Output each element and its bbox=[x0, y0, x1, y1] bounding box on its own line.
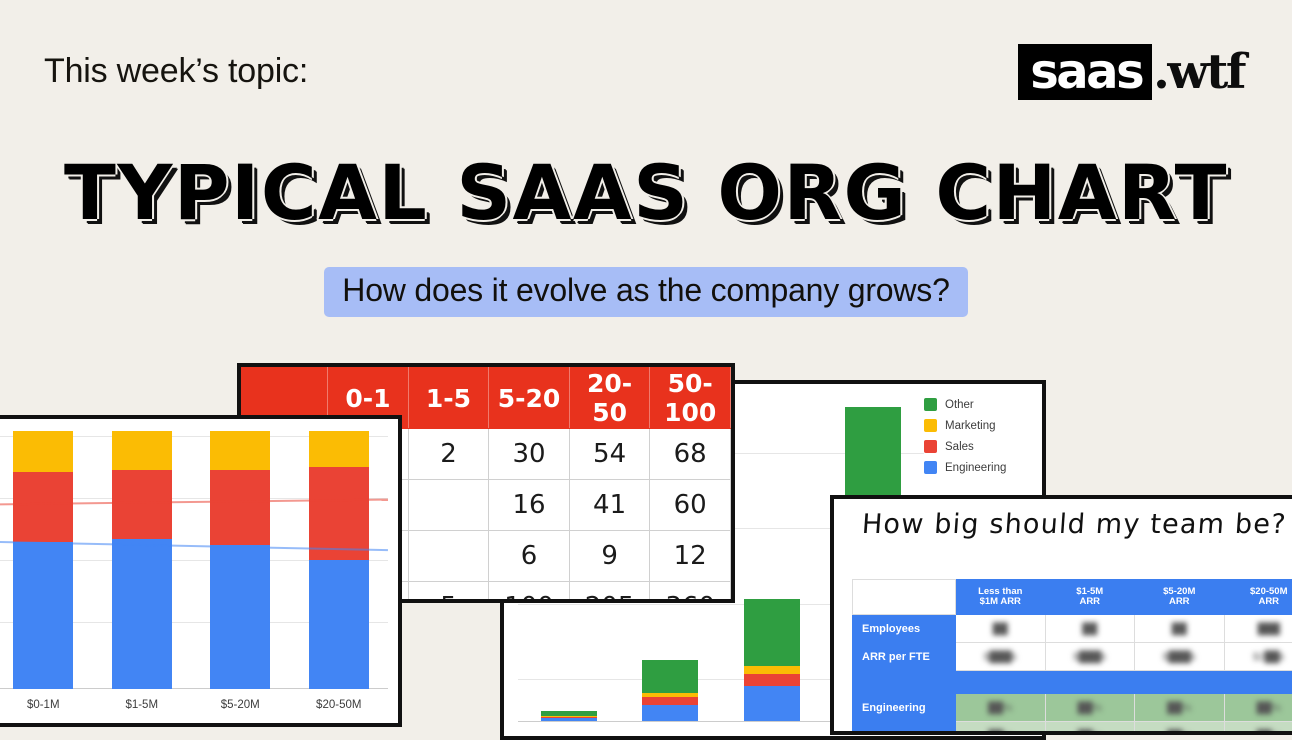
table-row-header: Engineering bbox=[853, 694, 956, 722]
table-cell: $███k bbox=[956, 643, 1046, 671]
redacted-value: $2██k bbox=[1253, 651, 1285, 663]
bar-stack[interactable] bbox=[309, 431, 369, 689]
table-cell: 41 bbox=[569, 480, 650, 531]
redacted-value: ██ bbox=[1082, 623, 1097, 635]
legend-item-engineering[interactable]: Engineering bbox=[924, 461, 1028, 474]
table-row-header: Employees bbox=[853, 615, 956, 643]
table-cell: ██% bbox=[1135, 694, 1225, 722]
table-row-header: ARR per FTE bbox=[853, 643, 956, 671]
legend-item-other[interactable]: Other bbox=[924, 398, 1028, 411]
page-subtitle: How does it evolve as the company grows? bbox=[324, 267, 967, 317]
bar-stack[interactable] bbox=[13, 431, 73, 689]
table-cell: $███k bbox=[1045, 643, 1135, 671]
headcount-mix-plot bbox=[0, 431, 388, 689]
table-cell: ██% bbox=[956, 694, 1046, 722]
bar-segment-engineering bbox=[309, 560, 369, 689]
redacted-value: $███k bbox=[1163, 651, 1196, 663]
logo-mark-text: saas bbox=[1018, 44, 1152, 100]
subtitle-container: How does it evolve as the company grows? bbox=[0, 267, 1292, 317]
table-cell: 6 bbox=[489, 531, 570, 582]
bar-segment-sales bbox=[210, 470, 270, 545]
legend-item-marketing[interactable]: Marketing bbox=[924, 419, 1028, 432]
table-corner-cell bbox=[853, 580, 956, 615]
table-cell: 100 bbox=[489, 582, 570, 604]
table-row bbox=[853, 671, 1292, 694]
legend-item-label: Other bbox=[945, 399, 974, 411]
table-cell: ██ bbox=[956, 615, 1046, 643]
table-cell: ██% bbox=[1135, 722, 1225, 736]
table-cell: ██% bbox=[1224, 722, 1292, 736]
table-spacer-row bbox=[853, 671, 1292, 694]
table-column-header[interactable]: $5-20MARR bbox=[1135, 580, 1225, 615]
kicker-text: This week’s topic: bbox=[44, 52, 308, 91]
x-axis-tick-label: $0-1M bbox=[3, 699, 83, 711]
table-header-row: Less than$1M ARR$1-5MARR$5-20MARR$20-50M… bbox=[853, 580, 1292, 615]
legend-swatch-icon bbox=[924, 419, 937, 432]
x-axis-tick-label: $5-20M bbox=[200, 699, 280, 711]
table-column-header[interactable]: Less than$1M ARR bbox=[956, 580, 1046, 615]
table-column-header[interactable]: $20-50MARR bbox=[1224, 580, 1292, 615]
table-column-header[interactable]: 20-50 bbox=[569, 368, 650, 429]
page-title: TYPICAL SAAS ORG CHART bbox=[0, 155, 1292, 231]
bar-segment-marketing bbox=[309, 431, 369, 467]
legend-item-label: Engineering bbox=[945, 462, 1006, 474]
logo-word-text: .wtf bbox=[1153, 44, 1244, 100]
table-cell: 2 bbox=[408, 429, 489, 480]
table-column-header[interactable]: $1-5MARR bbox=[1045, 580, 1135, 615]
team-size-card: How big should my team be? Less than$1M … bbox=[830, 495, 1292, 735]
bar-segment-marketing bbox=[210, 431, 270, 470]
bar-segment-engineering bbox=[210, 545, 270, 689]
redacted-value: ██% bbox=[1257, 730, 1281, 736]
table-cell: 9 bbox=[569, 531, 650, 582]
x-axis-labels: $0-1M$1-5M$5-20M$20-50M bbox=[0, 691, 388, 719]
redacted-value: ██% bbox=[1257, 702, 1281, 714]
table-cell bbox=[408, 531, 489, 582]
bar-segment-engineering bbox=[642, 705, 698, 721]
redacted-value: ██% bbox=[988, 702, 1012, 714]
redacted-value: ███ bbox=[1258, 623, 1280, 635]
table-column-header[interactable]: 1-5 bbox=[408, 368, 489, 429]
table-cell: ██ bbox=[1135, 615, 1225, 643]
table-cell: 360 bbox=[650, 582, 731, 604]
bar-segment-engineering bbox=[541, 718, 597, 721]
table-row: Employees█████████ bbox=[853, 615, 1292, 643]
redacted-value: ██% bbox=[1078, 702, 1102, 714]
bar-stack[interactable] bbox=[744, 599, 800, 721]
bar-segment-marketing bbox=[744, 666, 800, 674]
table-cell: 5 bbox=[408, 582, 489, 604]
headcount-mix-chart-card: $0-1M$1-5M$5-20M$20-50M bbox=[0, 415, 402, 727]
bar-segment-other bbox=[642, 660, 698, 693]
redacted-value: ██% bbox=[988, 730, 1012, 736]
redacted-value: ██% bbox=[1078, 730, 1102, 736]
table-row: ARR per FTE$███k$███k$███k$2██k bbox=[853, 643, 1292, 671]
chart-legend: OtherMarketingSalesEngineering bbox=[924, 398, 1028, 482]
x-axis-tick-label: $1-5M bbox=[102, 699, 182, 711]
table-cell: 30 bbox=[489, 429, 570, 480]
table-cell: 12 bbox=[650, 531, 731, 582]
table-cell: ██% bbox=[1045, 694, 1135, 722]
legend-swatch-icon bbox=[924, 398, 937, 411]
table-cell: 205 bbox=[569, 582, 650, 604]
table-cell: ███ bbox=[1224, 615, 1292, 643]
table-cell: 68 bbox=[650, 429, 731, 480]
table-row: ██%██%██%██% bbox=[853, 722, 1292, 736]
redacted-value: ██% bbox=[1167, 702, 1191, 714]
table-cell: ██% bbox=[1045, 722, 1135, 736]
bar-segment-engineering bbox=[112, 539, 172, 689]
table-cell: 16 bbox=[489, 480, 570, 531]
table-cell: ██% bbox=[1224, 694, 1292, 722]
table-row-header bbox=[853, 722, 956, 736]
bar-segment-engineering bbox=[13, 542, 73, 689]
redacted-value: $███k bbox=[1073, 651, 1106, 663]
headcount-mix-bar-group bbox=[0, 431, 388, 689]
bar-stack[interactable] bbox=[210, 431, 270, 689]
bar-stack[interactable] bbox=[642, 660, 698, 721]
team-size-table: Less than$1M ARR$1-5MARR$5-20MARR$20-50M… bbox=[852, 579, 1292, 735]
table-column-header[interactable]: 5-20 bbox=[489, 368, 570, 429]
bar-segment-marketing bbox=[112, 431, 172, 470]
table-cell: 60 bbox=[650, 480, 731, 531]
x-axis-tick-label: $20-50M bbox=[299, 699, 379, 711]
legend-item-sales[interactable]: Sales bbox=[924, 440, 1028, 453]
redacted-value: $███k bbox=[984, 651, 1017, 663]
legend-item-label: Marketing bbox=[945, 420, 996, 432]
brand-logo: saas .wtf bbox=[1018, 44, 1244, 100]
table-cell: 54 bbox=[569, 429, 650, 480]
bar-segment-marketing bbox=[13, 431, 73, 472]
bar-stack[interactable] bbox=[112, 431, 172, 689]
bar-segment-sales bbox=[309, 467, 369, 560]
redacted-value: ██ bbox=[1172, 623, 1187, 635]
bar-segment-sales bbox=[13, 472, 73, 542]
team-card-title: How big should my team be? bbox=[861, 509, 1288, 540]
legend-swatch-icon bbox=[924, 461, 937, 474]
table-cell: $2██k bbox=[1224, 643, 1292, 671]
table-cell: $███k bbox=[1135, 643, 1225, 671]
bar-segment-engineering bbox=[744, 686, 800, 721]
table-cell bbox=[408, 480, 489, 531]
table-cell: ██% bbox=[956, 722, 1046, 736]
table-cell: ██ bbox=[1045, 615, 1135, 643]
bar-segment-sales bbox=[112, 470, 172, 540]
bar-segment-sales bbox=[642, 697, 698, 705]
bar-stack[interactable] bbox=[541, 711, 597, 721]
bar-segment-sales bbox=[744, 674, 800, 686]
legend-item-label: Sales bbox=[945, 441, 974, 453]
legend-swatch-icon bbox=[924, 440, 937, 453]
table-row: Engineering██%██%██%██% bbox=[853, 694, 1292, 722]
redacted-value: ██ bbox=[993, 623, 1008, 635]
bar-segment-other bbox=[744, 599, 800, 666]
table-column-header[interactable]: 50-100 bbox=[650, 368, 731, 429]
redacted-value: ██% bbox=[1167, 730, 1191, 736]
